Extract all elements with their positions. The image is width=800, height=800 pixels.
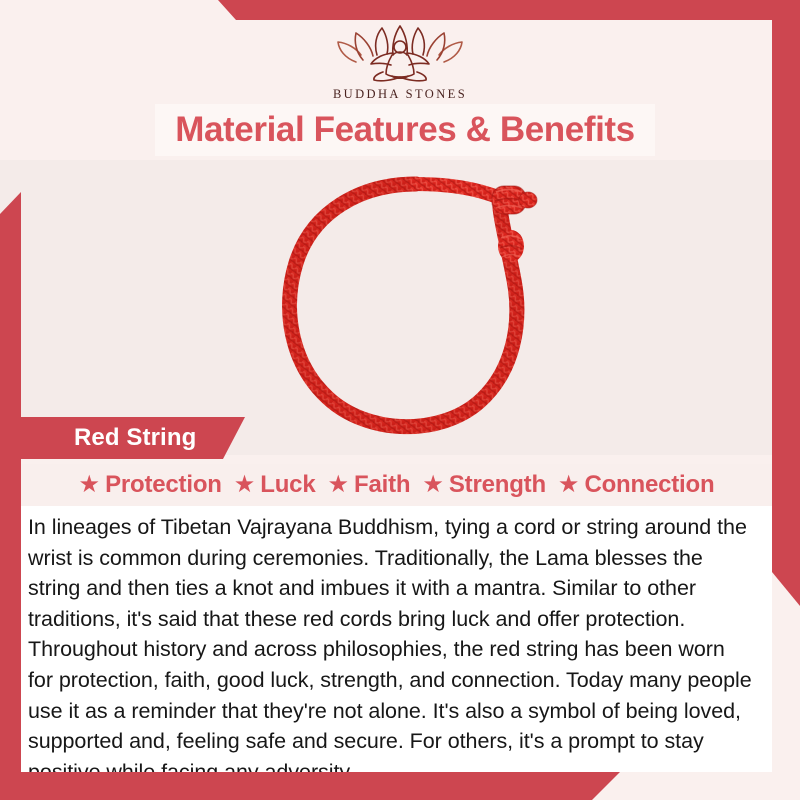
material-name-label: Red String: [20, 424, 196, 452]
benefit-item: ★ Connection: [558, 471, 715, 499]
brand-name: BUDDHA STONES: [0, 87, 800, 102]
benefit-item: ★ Protection: [79, 471, 222, 499]
benefit-label-faith: Faith: [354, 471, 410, 499]
benefits-row: ★ Protection ★ Luck ★ Faith ★ Strength ★…: [21, 464, 772, 506]
benefit-label-connection: Connection: [584, 471, 714, 499]
benefit-label-strength: Strength: [449, 471, 546, 499]
star-icon: ★: [558, 473, 580, 497]
star-icon: ★: [79, 473, 101, 497]
hero-image-area: [0, 160, 800, 455]
benefit-item: ★ Strength: [422, 471, 546, 499]
decor-left-red-strip: [0, 192, 21, 800]
star-icon: ★: [422, 473, 444, 497]
benefit-label-protection: Protection: [105, 471, 222, 499]
benefit-item: ★ Faith: [327, 471, 410, 499]
star-icon: ★: [234, 473, 256, 497]
description-panel: In lineages of Tibetan Vajrayana Buddhis…: [21, 506, 772, 772]
decor-top-red-band: [0, 0, 800, 20]
product-info-poster: BUDDHA STONES Material Features & Benefi…: [0, 0, 800, 800]
brand-lockup: BUDDHA STONES: [0, 22, 800, 102]
red-string-bracelet-image: [264, 160, 564, 455]
benefit-item: ★ Luck: [234, 471, 316, 499]
benefit-label-luck: Luck: [260, 471, 315, 499]
lotus-meditation-icon: [325, 22, 475, 84]
star-icon: ★: [327, 473, 349, 497]
description-text: In lineages of Tibetan Vajrayana Buddhis…: [28, 512, 754, 787]
material-name-ribbon: Red String: [20, 417, 245, 459]
page-title: Material Features & Benefits: [175, 110, 635, 150]
title-banner: Material Features & Benefits: [155, 104, 655, 156]
